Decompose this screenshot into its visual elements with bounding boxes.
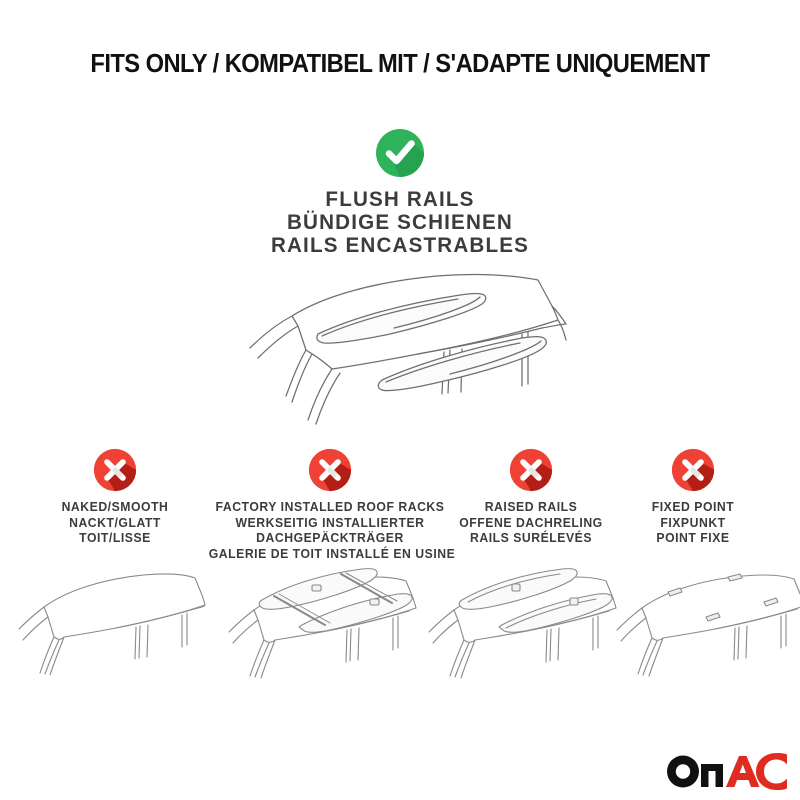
rejected-label-line-1: FIXED POINT <box>606 500 781 516</box>
rejected-label: RAISED RAILS OFFENE DACHRELING RAILS SUR… <box>434 500 628 547</box>
approved-label-line-1: FLUSH RAILS <box>16 188 784 211</box>
omac-logo: OMAC <box>666 752 788 790</box>
rejected-label-line-3: RAILS SURÉLEVÉS <box>434 531 628 547</box>
approved-label-line-2: BÜNDIGE SCHIENEN <box>16 211 784 234</box>
rejected-option-raised-rails: RAISED RAILS OFFENE DACHRELING RAILS SUR… <box>431 448 631 547</box>
rejected-label-line-2: OFFENE DACHRELING <box>434 516 628 532</box>
x-circle-icon <box>308 448 352 492</box>
rejected-label: NAKED/SMOOTH NACKT/GLATT TOIT/LISSE <box>18 500 212 547</box>
check-circle-icon <box>375 128 425 178</box>
rejected-label-line-3: POINT FIXE <box>606 531 781 547</box>
x-circle-icon <box>671 448 715 492</box>
car-roof-fixed-point-illustration <box>614 552 800 680</box>
rejected-label-line-1: RAISED RAILS <box>434 500 628 516</box>
rejected-label-line-2: FIXPUNKT <box>606 516 781 532</box>
car-roof-raised-rails-illustration <box>424 552 624 680</box>
rejected-label-line-2: WERKSEITIG INSTALLIERTER <box>209 516 452 532</box>
infographic-root: FITS ONLY / KOMPATIBEL MIT / S'ADAPTE UN… <box>0 0 800 800</box>
x-circle-icon <box>509 448 553 492</box>
rejected-label-line-1: NAKED/SMOOTH <box>18 500 212 516</box>
car-roof-naked-illustration <box>14 555 212 675</box>
approved-label: FLUSH RAILS BÜNDIGE SCHIENEN RAILS ENCAS… <box>16 188 784 257</box>
car-roof-factory-racks-illustration <box>222 552 427 680</box>
rejected-label-line-3: DACHGEPÄCKTRÄGER <box>209 531 452 547</box>
rejected-option-factory-installed-roof-racks: FACTORY INSTALLED ROOF RACKS WERKSEITIG … <box>205 448 455 562</box>
rejected-option-fixed-point: FIXED POINT FIXPUNKT POINT FIXE <box>603 448 783 547</box>
x-circle-icon <box>93 448 137 492</box>
rejected-label-line-3: TOIT/LISSE <box>18 531 212 547</box>
page-title: FITS ONLY / KOMPATIBEL MIT / S'ADAPTE UN… <box>28 50 772 79</box>
rejected-label: FIXED POINT FIXPUNKT POINT FIXE <box>606 500 781 547</box>
approved-label-line-3: RAILS ENCASTRABLES <box>16 234 784 257</box>
car-roof-flush-rails-illustration <box>222 262 582 434</box>
rejected-option-naked-smooth: NAKED/SMOOTH NACKT/GLATT TOIT/LISSE <box>15 448 215 547</box>
rejected-label-line-1: FACTORY INSTALLED ROOF RACKS <box>209 500 452 516</box>
approved-option-flush-rails: FLUSH RAILS BÜNDIGE SCHIENEN RAILS ENCAS… <box>0 128 800 257</box>
rejected-label-line-2: NACKT/GLATT <box>18 516 212 532</box>
